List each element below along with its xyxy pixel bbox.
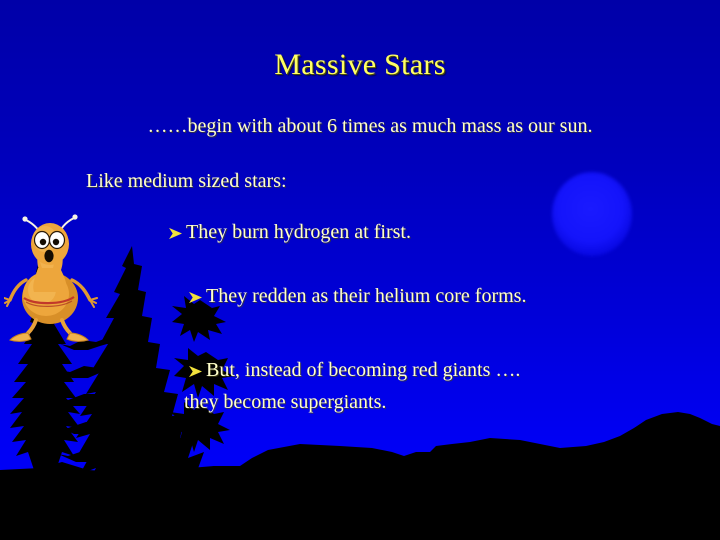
arrowhead-bullet-icon <box>168 227 185 240</box>
bullet-text-3: But, instead of becoming red giants …. <box>206 359 520 381</box>
hill-bump-shape <box>436 444 624 540</box>
pine-branch-wisps-shape <box>56 336 130 462</box>
arrowhead-bullet-icon <box>188 291 205 304</box>
presentation-slide: Massive Stars ……begin with about 6 times… <box>0 0 720 540</box>
bullet-text-3-continuation: they become supergiants. <box>184 389 688 416</box>
bullet-item-3: But, instead of becoming red giants …. t… <box>188 357 688 416</box>
arrowhead-bullet-icon <box>188 365 205 378</box>
alien-bug-mascot-icon <box>4 206 98 342</box>
slide-title: Massive Stars <box>0 48 720 82</box>
bullet-item-1: They burn hydrogen at first. <box>168 219 411 246</box>
subhead-line: Like medium sized stars: <box>86 168 287 194</box>
blue-moon-glow-icon <box>552 172 632 256</box>
bullet-text-1: They burn hydrogen at first. <box>186 221 411 243</box>
bullet-item-2: They redden as their helium core forms. <box>188 283 526 310</box>
intro-line: ……begin with about 6 times as much mass … <box>40 113 700 139</box>
bullet-text-2: They redden as their helium core forms. <box>206 285 526 307</box>
hill-left-shape <box>152 466 300 540</box>
mountain-ridge-shape <box>0 412 720 540</box>
small-pine-tree-shape <box>10 236 80 470</box>
